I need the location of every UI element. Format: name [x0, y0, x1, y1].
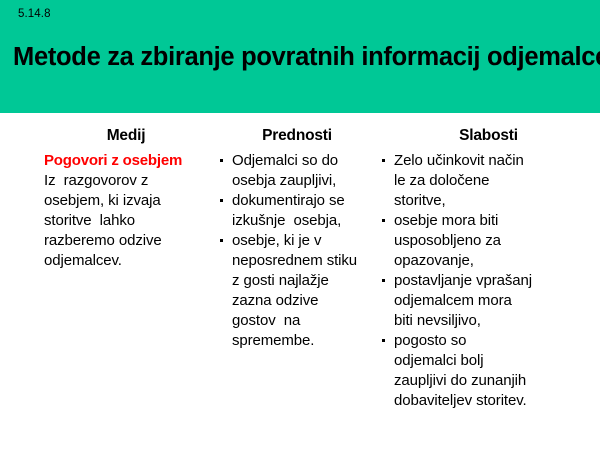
list-item-line: dobaviteljev storitev.: [394, 391, 595, 411]
list-item-line: pogosto so: [394, 331, 595, 351]
column-header-medij: Medij: [44, 126, 224, 145]
list-item: dokumentirajo se izkušnje osebja,: [218, 191, 382, 231]
paragraph-line: osebjem, ki izvaja: [44, 191, 224, 211]
header-band: 5.14.8 Metode za zbiranje povratnih info…: [0, 0, 600, 113]
content-columns: Medij Pogovori z osebjem Iz razgovorov z…: [0, 113, 600, 450]
slabosti-bullet-list: Zelo učinkovit način le za določene stor…: [380, 151, 595, 411]
list-item-line: spremembe.: [232, 331, 382, 351]
paragraph-line: Iz razgovorov z: [44, 171, 224, 191]
list-item: postavljanje vprašanj odjemalcem mora bi…: [380, 271, 595, 331]
list-item-line: biti nevsiljivo,: [394, 311, 595, 331]
medij-paragraph: Iz razgovorov z osebjem, ki izvaja stori…: [44, 171, 224, 271]
list-item-line: zazna odzive: [232, 291, 382, 311]
list-item-line: usposobljeno za: [394, 231, 595, 251]
list-item-line: dokumentirajo se: [232, 191, 382, 211]
bullet-square-icon: [382, 219, 385, 222]
list-item: pogosto so odjemalci bolj zaupljivi do z…: [380, 331, 595, 411]
list-item: Odjemalci so do osebja zaupljivi,: [218, 151, 382, 191]
list-item-line: odjemalci bolj: [394, 351, 595, 371]
column-slabosti: Slabosti Zelo učinkovit način le za dolo…: [380, 113, 595, 411]
column-prednosti: Prednosti Odjemalci so do osebja zauplji…: [218, 113, 382, 351]
bullet-square-icon: [220, 199, 223, 202]
list-item-line: neposrednem stiku: [232, 251, 382, 271]
list-item-line: opazovanje,: [394, 251, 595, 271]
bullet-square-icon: [382, 159, 385, 162]
slide-number-label: 5.14.8: [18, 7, 51, 21]
bullet-square-icon: [220, 159, 223, 162]
paragraph-line: storitve lahko: [44, 211, 224, 231]
list-item-line: Odjemalci so do: [232, 151, 382, 171]
list-item: osebje mora biti usposobljeno za opazova…: [380, 211, 595, 271]
list-item-line: z gosti najlažje: [232, 271, 382, 291]
column-header-slabosti: Slabosti: [380, 126, 595, 145]
list-item-line: zaupljivi do zunanjih: [394, 371, 595, 391]
list-item-line: gostov na: [232, 311, 382, 331]
column-body-prednosti: Odjemalci so do osebja zaupljivi, dokume…: [218, 151, 382, 351]
column-medij: Medij Pogovori z osebjem Iz razgovorov z…: [44, 113, 224, 271]
list-item-line: postavljanje vprašanj: [394, 271, 595, 291]
prednosti-bullet-list: Odjemalci so do osebja zaupljivi, dokume…: [218, 151, 382, 351]
bullet-square-icon: [382, 339, 385, 342]
bullet-square-icon: [382, 279, 385, 282]
slide-canvas: 5.14.8 Metode za zbiranje povratnih info…: [0, 0, 600, 450]
list-item: osebje, ki je v neposrednem stiku z gost…: [218, 231, 382, 351]
bullet-square-icon: [220, 239, 223, 242]
paragraph-line: razberemo odzive: [44, 231, 224, 251]
paragraph-line: odjemalcev.: [44, 251, 224, 271]
column-header-prednosti: Prednosti: [218, 126, 382, 145]
list-item-line: osebje, ki je v: [232, 231, 382, 251]
list-item-line: izkušnje osebja,: [232, 211, 382, 231]
medij-lead-heading: Pogovori z osebjem: [44, 151, 224, 171]
list-item-line: storitve,: [394, 191, 595, 211]
list-item: Zelo učinkovit način le za določene stor…: [380, 151, 595, 211]
list-item-line: osebje mora biti: [394, 211, 595, 231]
page-title: Metode za zbiranje povratnih informacij …: [13, 42, 593, 72]
list-item-line: odjemalcem mora: [394, 291, 595, 311]
column-body-slabosti: Zelo učinkovit način le za določene stor…: [380, 151, 595, 411]
list-item-line: osebja zaupljivi,: [232, 171, 382, 191]
list-item-line: le za določene: [394, 171, 595, 191]
column-body-medij: Pogovori z osebjem Iz razgovorov z osebj…: [44, 151, 224, 271]
list-item-line: Zelo učinkovit način: [394, 151, 595, 171]
